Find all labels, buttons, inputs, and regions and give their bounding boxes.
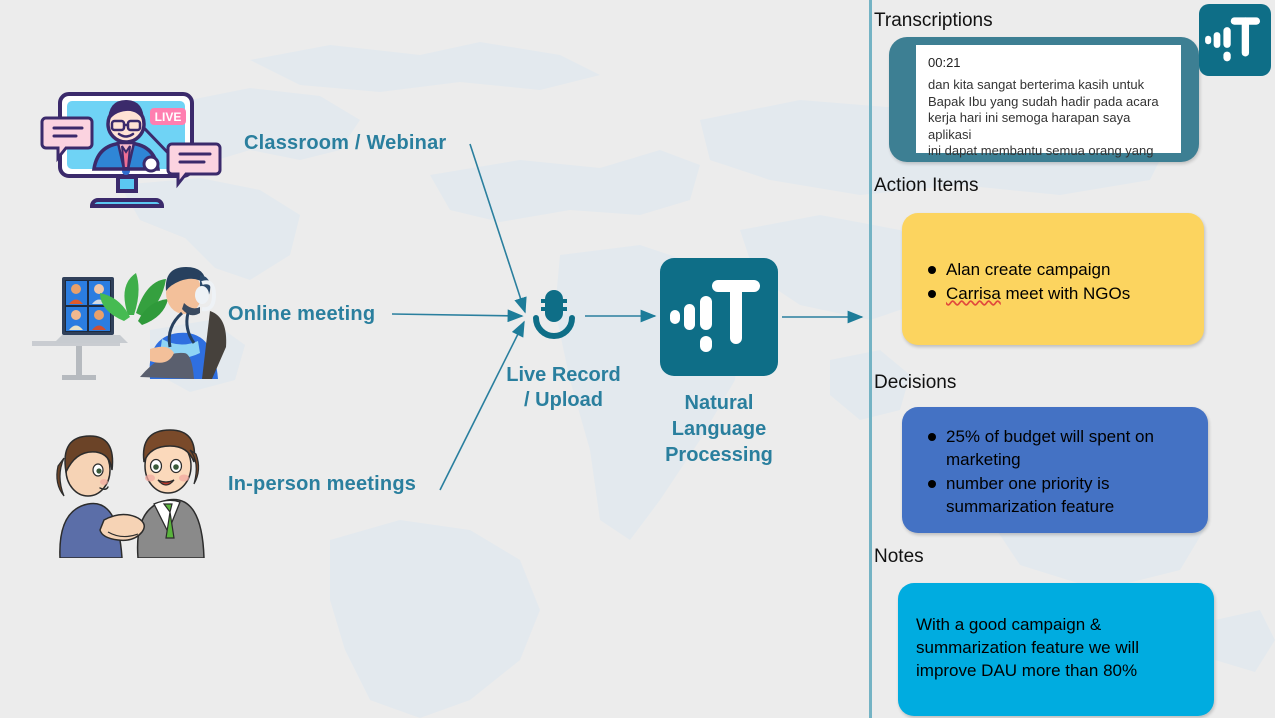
transcription-text: dan kita sangat berterima kasih untuk Ba…	[928, 77, 1171, 160]
nlp-logo-icon	[660, 258, 778, 376]
list-item: Carrisa meet with NGOs	[902, 282, 1204, 305]
transcription-timestamp: 00:21	[928, 55, 1171, 70]
nlp-logo-icon	[1199, 4, 1271, 76]
decision-item-text: 25% of budget will spent on marketing	[946, 427, 1154, 469]
notes-card[interactable]: With a good campaign & summarization fea…	[898, 583, 1214, 716]
arrow-online	[392, 314, 522, 316]
live-record-line1: Live Record	[466, 363, 661, 388]
list-item: 25% of budget will spent on marketing	[902, 425, 1208, 471]
diagram-canvas: LIVE	[0, 0, 1275, 718]
list-item: number one priority is summarization fea…	[902, 472, 1208, 518]
action-item-text: meet with NGOs	[1001, 284, 1130, 303]
decisions-card[interactable]: 25% of budget will spent on marketing nu…	[902, 407, 1208, 533]
nlp-label: Natural Language Processing	[648, 390, 790, 468]
heading-transcriptions: Transcriptions	[874, 10, 993, 32]
action-item-text: Alan create campaign	[946, 260, 1110, 279]
decisions-list: 25% of budget will spent on marketing nu…	[902, 425, 1208, 519]
arrow-classroom	[470, 144, 525, 312]
decision-item-text: number one priority is summarization fea…	[946, 474, 1114, 516]
action-items-list: Alan create campaign Carrisa meet with N…	[902, 258, 1204, 306]
list-item: Alan create campaign	[902, 258, 1204, 281]
transcription-inner-panel: 00:21 dan kita sangat berterima kasih un…	[916, 45, 1181, 153]
action-items-card[interactable]: Alan create campaign Carrisa meet with N…	[902, 213, 1204, 345]
heading-decisions: Decisions	[874, 372, 956, 394]
panel-divider	[869, 0, 872, 718]
transcription-card[interactable]: 00:21 dan kita sangat berterima kasih un…	[889, 37, 1199, 162]
nlp-label-line2: Language	[648, 416, 790, 442]
heading-action-items: Action Items	[874, 175, 979, 197]
heading-notes: Notes	[874, 546, 924, 568]
action-item-misspelled-word: Carrisa	[946, 284, 1001, 303]
live-record-line2: / Upload	[466, 388, 661, 413]
nlp-label-line3: Processing	[648, 442, 790, 468]
live-record-upload-label: Live Record / Upload	[466, 363, 661, 413]
microphone-icon	[528, 288, 580, 348]
nlp-label-line1: Natural	[648, 390, 790, 416]
notes-text: With a good campaign & summarization fea…	[916, 613, 1196, 682]
